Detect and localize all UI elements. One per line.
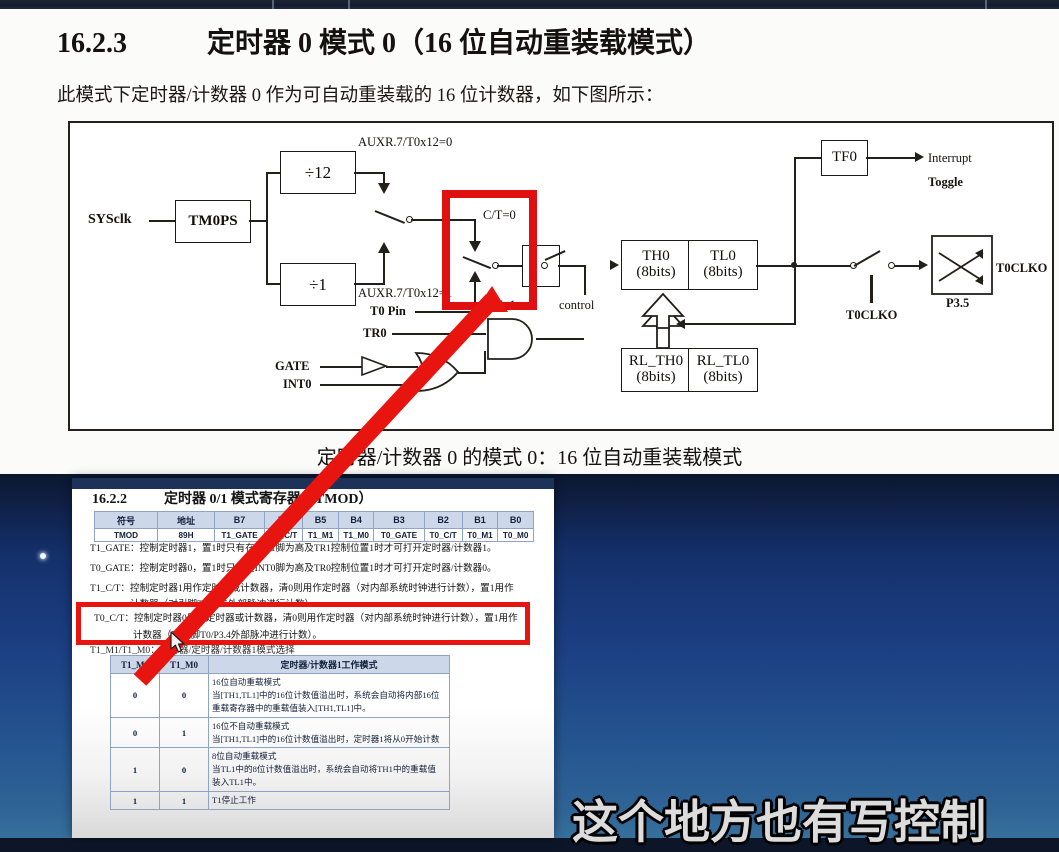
strip-nick [985,0,987,9]
arrow-into-th0 [610,260,619,270]
wire-div1-up [383,249,385,284]
th-mode-desc: 定时器/计数器1工作模式 [209,656,450,674]
wire-overflow-out [756,265,796,267]
timer0-block-diagram: SYSclk TM0PS ÷12 ÷1 AUXR.7/T0x12=0 AUXR.… [68,121,1054,431]
doc-paragraph-t0-gate: T0_GATE：控制定时器0，置1时只有在INT0脚为高及TR0控制位置1时才可… [90,563,497,576]
doc-section-heading-text: 定时器 0/1 模式寄存器（TMOD） [164,492,372,507]
wire-gate-out [558,265,586,267]
block-th0-label: TH0 [642,249,670,265]
block-divide-1: ÷1 [280,263,356,306]
block-tl0-label: TL0 [710,249,736,265]
th-b6: B6 [265,512,303,529]
switch-t0clko[interactable] [854,250,881,267]
diagram-label-t0clko-switch: T0CLKO [846,308,897,323]
diagram-label-t0-pin: T0 Pin [370,304,406,319]
block-rl-th0: RL_TH0 (8bits) [621,348,691,392]
td-m0: 0 [160,674,209,718]
desc-line: 16位不自动重载模式 [212,720,446,733]
td-b7: T1_GATE [215,529,265,542]
wire-or-to-and [484,351,486,373]
wire-overflow-vertical [794,157,796,325]
diagram-label-int0: INT0 [283,377,311,392]
desc-line: 装入TL1中。 [212,776,446,789]
td-m0: 1 [160,717,209,748]
td-b5: T1_M1 [303,529,339,542]
table-row: 1 0 8位自动重载模式 当TL1中的8位计数值溢出时，系统会自动将TH1中的重… [111,748,450,792]
figure-caption: 定时器/计数器 0 的模式 0：16 位自动重装载模式 [0,441,1059,470]
diagram-label-control: control [559,298,594,313]
td-m0: 0 [160,748,209,792]
diagram-label-sysclk: SYSclk [88,212,132,228]
doc-highlight-line2: 计数器（对引脚T0/P3.4外部脉冲进行计数）。 [133,627,322,641]
desc-line: 8位自动重载模式 [212,750,446,763]
wire-split-vertical [266,172,268,284]
desc-line: 当[TH1,TL1]中的16位计数值溢出时，系统会自动将内部16位 [212,689,446,702]
diagram-label-t0clko-out: T0CLKO [996,261,1047,276]
th-b5: B5 [303,512,339,529]
wire-to-toggle [894,265,922,267]
block-tm0ps: TM0PS [175,200,251,243]
wire-int0-in [320,384,418,386]
block-rl-th0-bits: (8bits) [636,370,675,386]
td-b4: T1_M0 [338,529,374,542]
block-tm0ps-label: TM0PS [188,214,237,230]
th-b1: B1 [462,512,498,529]
block-rl-tl0-label: RL_TL0 [697,354,750,370]
red-highlight-rectangle-diagram [442,190,537,310]
th-symbol: 符号 [95,512,158,529]
desc-line: 当TL1中的8位计数值溢出时，系统会自动将TH1中的重载值 [212,763,446,776]
th-address: 地址 [158,512,215,529]
diagram-label-auxr-t0x12-1: AUXR.7/T0x12=1 [358,286,452,301]
switch-clock-select [375,210,405,224]
reload-arrow-icon [635,286,691,350]
table-row: 1 1 T1停止工作 [111,792,450,810]
strip-nick [348,0,350,9]
switch-control-node [541,262,548,269]
block-th0-bits: (8bits) [636,265,675,281]
td-symbol: TMOD [95,529,158,542]
wire-gate-in [320,366,362,368]
th-b0: B0 [498,512,534,529]
video-subtitle-overlay: 这个地方也有写控制 [572,786,986,852]
table-row: TMOD 89H T1_GATE T1_C/T T1_M1 T1_M0 T0_G… [95,529,534,542]
td-desc: 16位自动重载模式 当[TH1,TL1]中的16位计数值溢出时，系统会自动将内部… [209,674,450,718]
th-b4: B4 [338,512,374,529]
td-desc: 8位自动重载模式 当TL1中的8位计数值溢出时，系统会自动将TH1中的重载值 装… [209,748,450,792]
block-th0: TH0 (8bits) [621,240,691,290]
diagram-label-auxr-t0x12-0: AUXR.7/T0x12=0 [358,135,452,150]
table-row: 0 0 16位自动重载模式 当[TH1,TL1]中的16位计数值溢出时，系统会自… [111,674,450,718]
td-m1: 0 [111,717,160,748]
table-row-header: 符号 地址 B7 B6 B5 B4 B3 B2 B1 B0 [95,512,534,529]
wire-div1-out [354,283,385,285]
block-rl-th0-label: RL_TH0 [629,354,683,370]
diagram-label-tr0: TR0 [363,326,387,341]
page-title: 16.2.3定时器 0 模式 0（16 位自动重装载模式） [57,21,1017,61]
td-b1: T0_M1 [462,529,498,542]
block-tl0: TL0 (8bits) [688,240,758,290]
th-b2: B2 [424,512,462,529]
block-divide-1-label: ÷1 [309,276,327,294]
wire-tf0-interrupt [866,157,918,159]
td-m0: 1 [160,792,209,810]
block-rl-tl0-bits: (8bits) [703,370,742,386]
doc-paragraph-t1-ct: T1_C/T：控制定时器1用作定时器或计数器，清0则用作定时器（对内部系统时钟进… [90,583,514,596]
toggle-block [931,235,993,295]
td-b2: T0_C/T [424,529,462,542]
arrow-div1-to-switch [378,242,390,253]
doc-highlight-line1: T0_C/T：控制定时器0用作定时器或计数器，清0则用作定时器（对内部系统时钟进… [94,610,518,624]
arrow-to-toggle [919,260,928,270]
td-desc: T1停止工作 [209,792,450,810]
wire-sysclk-tm0ps [149,220,175,222]
wire-to-t0clko-switch [796,265,851,267]
td-m1: 1 [111,748,160,792]
desc-line: T1停止工作 [212,794,446,807]
mouse-cursor [170,631,188,655]
wire-t0clko-control [870,275,873,303]
lead-paragraph: 此模式下定时器/计数器 0 作为可自动重装载的 16 位计数器，如下图所示： [57,81,1017,107]
arrow-div12-to-switch [378,183,390,194]
arrow-interrupt [915,152,924,162]
desc-line: 当[TH1,TL1]中的16位计数值溢出时，定时器1将从0开始计数 [212,733,446,746]
and-gate [486,317,538,361]
doc-section-title: 16.2.2定时器 0/1 模式寄存器（TMOD） [92,488,372,508]
arrow-reload-feedback [676,319,685,329]
th-b7: B7 [215,512,265,529]
td-address: 89H [158,529,215,542]
diagram-label-interrupt: Interrupt [928,151,972,166]
td-m1: 1 [111,792,160,810]
wire-to-tf0 [794,157,822,159]
wire-and-out [536,338,584,340]
slide-page-top: 16.2.3定时器 0 模式 0（16 位自动重装载模式） 此模式下定时器/计数… [0,9,1059,474]
wire-div12-out [354,172,385,174]
desc-line: 重载寄存器中的重载值装入[TH1,TL1]中。 [212,702,446,715]
diagram-label-toggle: Toggle [928,175,963,190]
block-divide-12-label: ÷12 [305,164,331,182]
block-tl0-bits: (8bits) [703,265,742,281]
table-row: 0 1 16位不自动重载模式 当[TH1,TL1]中的16位计数值溢出时，定时器… [111,717,450,748]
wire-gate-ctrl-down [584,265,586,295]
wire-split-to-div12 [266,172,280,174]
doc-section-number: 16.2.2 [92,492,164,508]
td-desc: 16位不自动重载模式 当[TH1,TL1]中的16位计数值溢出时，定时器1将从0… [209,717,450,748]
th-t1-m0: T1_M0 [160,656,209,674]
th-b3: B3 [374,512,424,529]
table-row-header: T1_M1 T1_M0 定时器/计数器1工作模式 [111,656,450,674]
wire-tm0ps-split [249,220,267,222]
desc-line: 16位自动重载模式 [212,676,446,689]
block-tf0: TF0 [821,140,868,176]
th-t1-m1: T1_M1 [111,656,160,674]
td-b3: T0_GATE [374,529,424,542]
strip-nick [272,0,274,9]
top-screen-edge-strip [0,0,1059,9]
wire-overflow-feedback [682,323,796,325]
diagram-label-p35: P3.5 [946,296,969,311]
block-tf0-label: TF0 [832,150,857,166]
td-m1: 0 [111,674,160,718]
td-b0: T0_M0 [498,529,534,542]
section-number: 16.2.3 [57,28,207,60]
wire-or-out [458,372,486,374]
tmod-register-table: 符号 地址 B7 B6 B5 B4 B3 B2 B1 B0 TMOD 89H T… [94,511,534,542]
diagram-label-gate: GATE [275,359,310,374]
or-gate [414,351,462,395]
td-b6: T1_C/T [265,529,303,542]
star [40,553,46,559]
wire-t0pin [415,311,475,313]
block-rl-tl0: RL_TL0 (8bits) [688,348,758,392]
doc-paragraph-t1-gate: T1_GATE：控制定时器1，置1时只有在INT1脚为高及TR1控制位置1时才可… [90,543,497,556]
section-heading-text: 定时器 0 模式 0（16 位自动重装载模式） [207,28,711,59]
wire-split-to-div1 [266,283,280,285]
timer1-mode-table: T1_M1 T1_M0 定时器/计数器1工作模式 0 0 16位自动重载模式 当… [110,655,450,810]
block-divide-12: ÷12 [280,151,356,194]
wire-tr0 [392,333,486,335]
